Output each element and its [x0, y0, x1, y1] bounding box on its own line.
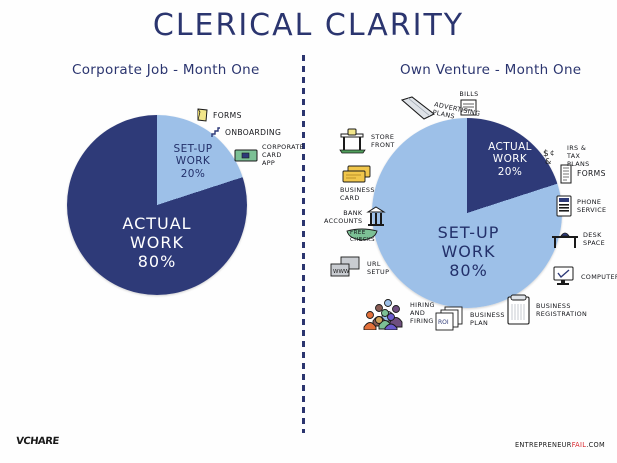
annotation-hiring-firing-label: HIRING AND FIRING	[410, 301, 435, 325]
annotation-url-setup: WWW URL SETUP	[329, 256, 389, 280]
annotation-bank-accounts-label: BANK ACCOUNTS	[324, 209, 362, 225]
annotation-business-registration: BUSINESS REGISTRATION	[506, 294, 587, 326]
annotation-store-front-label: STORE FRONT	[371, 133, 395, 149]
annotation-url-setup-label: URL SETUP	[367, 260, 389, 276]
storefront-icon	[339, 128, 367, 154]
url-setup-icon: WWW	[329, 256, 363, 280]
site-credit-prefix: ENTREPRENEUR	[515, 441, 572, 449]
annotation-business-plan-label: BUSINESS PLAN	[470, 311, 505, 327]
annotation-irs-tax-plans-label: IRS & TAX PLANS	[567, 144, 590, 168]
site-credit-suffix: .COM	[586, 441, 605, 449]
annotation-irs-tax-plans: $ ¢ & IRS & TAX PLANS	[543, 144, 590, 168]
annotation-forms-left: FORMS	[196, 108, 242, 123]
site-credit-highlight: FAIL	[572, 441, 587, 449]
svg-text:&: &	[545, 157, 551, 166]
infographic-canvas: CLERICAL CLARITY Corporate Job - Month O…	[0, 0, 617, 463]
svg-text:ROI: ROI	[438, 319, 449, 326]
computer-icon	[553, 266, 577, 288]
annotation-store-front: STORE FRONT	[339, 128, 395, 154]
annotation-onboarding: ONBOARDING	[210, 127, 281, 139]
annotation-business-plan: ROI BUSINESS PLAN	[434, 306, 505, 332]
annotation-phone-service: PHONE SERVICE	[555, 195, 606, 217]
annotation-free-checks: FREE CHECKS	[345, 228, 379, 242]
annotation-advertising-plans-label: ADVERTISING PLANS	[432, 100, 481, 125]
bank-icon	[366, 206, 386, 228]
business-card-icon	[341, 165, 373, 185]
own-venture-pie-chart	[372, 118, 562, 308]
annotation-forms-right-label: FORMS	[577, 169, 606, 178]
forms-icon	[196, 108, 209, 123]
registration-icon	[506, 294, 532, 326]
annotation-advertising-plans: ADVERTISING PLANS	[399, 96, 480, 122]
annotation-bank-accounts: BANK ACCOUNTS	[324, 206, 386, 228]
left-panel-subtitle: Corporate Job - Month One	[72, 62, 260, 78]
onboarding-icon	[210, 127, 221, 139]
annotation-computer-label: COMPUTER	[581, 273, 617, 281]
right-panel-subtitle: Own Venture - Month One	[400, 62, 581, 78]
annotation-corporate-card-label: CORPORATE CARD APP	[262, 143, 304, 167]
business-plan-icon: ROI	[434, 306, 466, 332]
artist-signature: VCHARE	[15, 436, 59, 447]
panel-divider	[302, 55, 305, 433]
annotation-free-checks-label: FREE CHECKS	[350, 230, 375, 244]
annotation-phone-service-label: PHONE SERVICE	[577, 198, 606, 214]
annotation-desk-space-label: DESK SPACE	[583, 231, 605, 247]
money-icon: $ ¢ &	[543, 146, 563, 166]
annotation-corporate-card: CORPORATE CARD APP	[234, 143, 304, 167]
annotation-desk-space: DESK SPACE	[551, 228, 605, 250]
corporate-job-pie-chart	[67, 115, 247, 295]
annotation-hiring-firing: HIRING AND FIRING	[362, 296, 435, 330]
svg-text:WWW: WWW	[333, 269, 350, 275]
annotation-onboarding-label: ONBOARDING	[225, 128, 281, 137]
people-icon	[362, 296, 406, 330]
annotation-forms-left-label: FORMS	[213, 111, 242, 120]
annotation-business-card: BUSINESS CARD	[340, 165, 375, 202]
annotation-computer: COMPUTER	[553, 266, 617, 288]
page-title: CLERICAL CLARITY	[0, 8, 617, 43]
site-credit: ENTREPRENEURFAIL.COM	[515, 441, 605, 449]
phone-service-icon	[555, 195, 573, 217]
annotation-business-registration-label: BUSINESS REGISTRATION	[536, 302, 587, 318]
desk-icon	[551, 228, 579, 250]
corporate-card-icon	[234, 148, 258, 162]
annotation-business-card-label: BUSINESS CARD	[340, 186, 375, 202]
svg-text:¢: ¢	[550, 149, 554, 157]
